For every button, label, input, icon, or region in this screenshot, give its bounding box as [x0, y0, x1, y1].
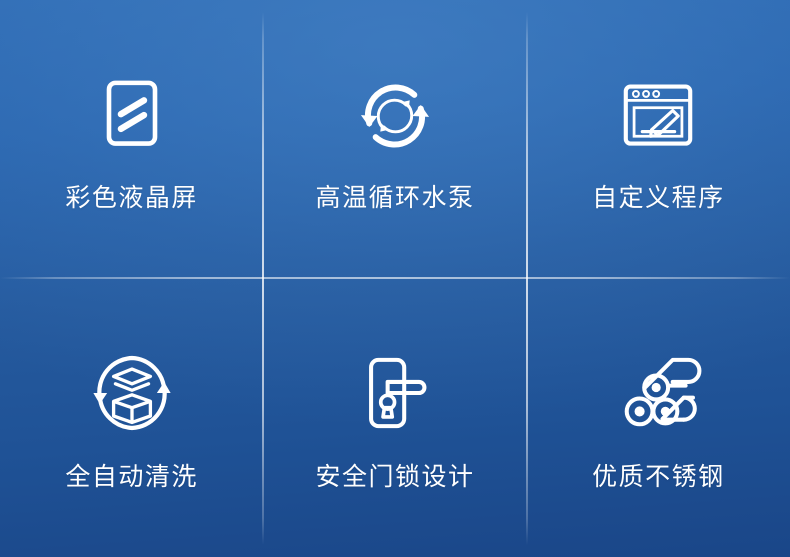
feature-tile-safety-door-lock-design[interactable]: 安全门锁设计	[263, 279, 526, 557]
lcd-screen-icon	[84, 68, 180, 164]
feature-tile-premium-stainless-steel[interactable]: 优质不锈钢	[527, 279, 790, 557]
feature-label: 高温循环水泵	[315, 186, 474, 211]
feature-label: 自定义程序	[592, 186, 725, 211]
feature-label: 安全门锁设计	[315, 465, 474, 490]
steel-pipes-icon	[610, 345, 706, 441]
feature-label: 全自动清洗	[65, 465, 198, 490]
feature-highlights-panel: 彩色液晶屏 高温循环水泵	[0, 0, 790, 557]
feature-grid: 彩色液晶屏 高温循环水泵	[0, 0, 790, 557]
feature-tile-custom-program[interactable]: 自定义程序	[527, 0, 790, 279]
box-refresh-icon	[84, 345, 180, 441]
feature-label: 优质不锈钢	[592, 465, 725, 490]
feature-label: 彩色液晶屏	[65, 186, 198, 211]
circulation-loop-icon	[347, 68, 443, 164]
window-pencil-icon	[610, 68, 706, 164]
feature-tile-high-temp-circulation-pump[interactable]: 高温循环水泵	[263, 0, 526, 279]
feature-tile-color-lcd-screen[interactable]: 彩色液晶屏	[0, 0, 263, 279]
door-lock-icon	[347, 345, 443, 441]
feature-tile-fully-automatic-cleaning[interactable]: 全自动清洗	[0, 279, 263, 557]
